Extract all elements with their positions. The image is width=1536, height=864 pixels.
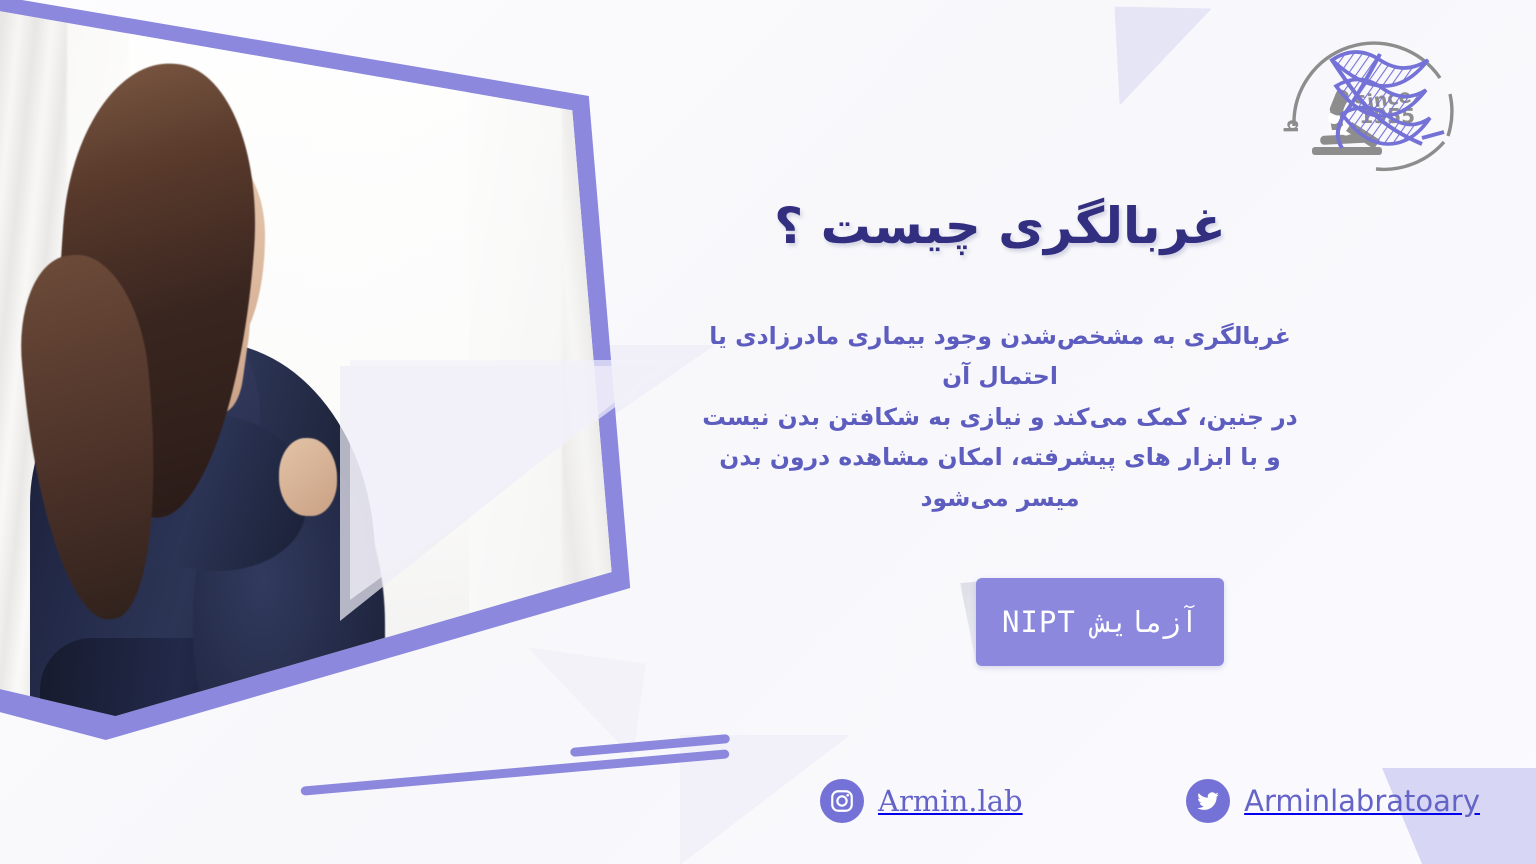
pregnancy-photo <box>0 0 644 764</box>
nipt-test-button[interactable]: آزمایش NIPT <box>976 578 1224 666</box>
description-line-1: غربالگری به مشخص‌شدن وجود بیماری مادرزاد… <box>690 316 1310 397</box>
twitter-icon <box>1186 779 1230 823</box>
instagram-link[interactable]: Armin.lab <box>820 779 1023 823</box>
twitter-link[interactable]: Arminlabratoary <box>1186 779 1480 823</box>
text-content-block: غربالگری چیست ؟ غربالگری به مشخص‌شدن وجو… <box>690 196 1310 518</box>
photo-frame <box>0 0 644 764</box>
description-paragraph: غربالگری به مشخص‌شدن وجود بیماری مادرزاد… <box>690 316 1310 518</box>
triangle-decoration-top <box>1114 2 1216 106</box>
armin-pathobiology-lab-logo: Armin Pathobiology Lab Since 1955 <box>1272 10 1508 185</box>
cta-container: آزمایش NIPT <box>976 578 1224 666</box>
instagram-icon <box>820 779 864 823</box>
description-line-2: در جنین، کمک می‌کند و نیازی به شکافتن بد… <box>690 397 1310 437</box>
description-line-3: و با ابزار های پیشرفته، امکان مشاهده درو… <box>690 437 1310 518</box>
instagram-handle: Armin.lab <box>878 784 1023 818</box>
page-title: غربالگری چیست ؟ <box>690 196 1310 256</box>
social-footer: Armin.lab Arminlabratoary <box>820 770 1480 832</box>
svg-text:Armin Pathobiology Lab: Armin Pathobiology Lab <box>1272 10 1303 133</box>
hand-upper-shape <box>279 438 336 517</box>
twitter-handle: Arminlabratoary <box>1244 784 1480 818</box>
poster-canvas: Armin Pathobiology Lab Since 1955 <box>0 0 1536 864</box>
